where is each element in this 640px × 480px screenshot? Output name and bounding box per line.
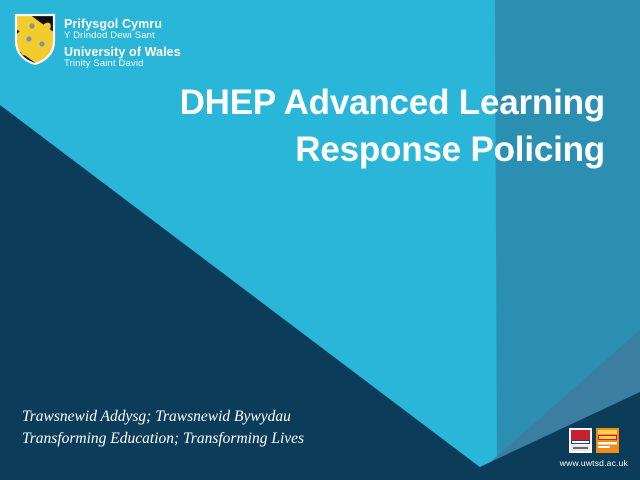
heraldic-shield-crest-icon [14, 13, 56, 66]
institution-tagline: Trawsnewid Addysg; Trawsnewid Bywydau Tr… [22, 406, 304, 450]
awards-badge [596, 428, 619, 453]
university-logo[interactable]: Prifysgol Cymru Y Drindod Dewi Sant Univ… [14, 13, 181, 70]
logo-welsh-subtitle: Y Drindod Dewi Sant [64, 31, 181, 42]
logo-wordmark: Prifysgol Cymru Y Drindod Dewi Sant Univ… [64, 13, 181, 70]
title-line-1: DHEP Advanced Learning [135, 80, 605, 127]
title-line-2: Response Policing [135, 127, 605, 174]
title-slide: Prifysgol Cymru Y Drindod Dewi Sant Univ… [0, 0, 640, 480]
logo-english-name: University of Wales [64, 45, 181, 59]
website-url-link[interactable]: www.uwtsd.ac.uk [560, 458, 628, 468]
tagline-english: Transforming Education; Transforming Liv… [22, 428, 304, 450]
league-table-award-badge [569, 428, 592, 453]
slide-title: DHEP Advanced Learning Response Policing [135, 80, 605, 173]
award-badges [569, 428, 619, 453]
logo-welsh-name: Prifysgol Cymru [64, 17, 181, 31]
tagline-welsh: Trawsnewid Addysg; Trawsnewid Bywydau [22, 406, 304, 428]
footer-right-group: www.uwtsd.ac.uk [560, 428, 628, 468]
logo-english-subtitle: Trinity Saint David [64, 59, 181, 70]
